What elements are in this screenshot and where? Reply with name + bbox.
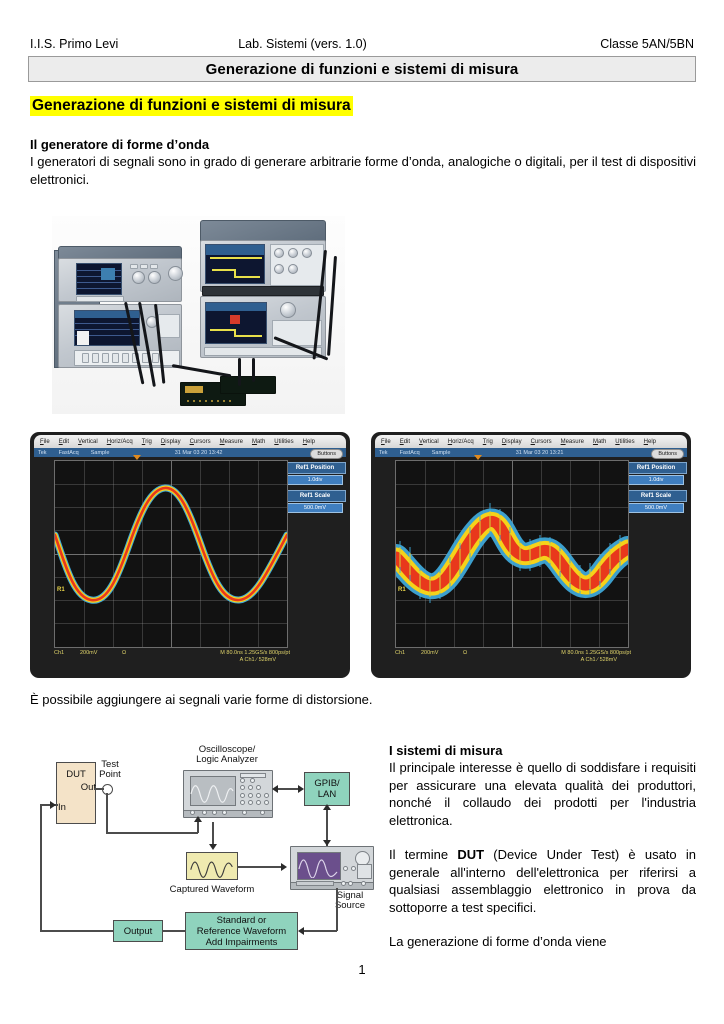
diagram-line-output-left xyxy=(40,930,114,932)
scope-ref1-scale-label: Ref1 Scale xyxy=(284,490,346,502)
diagram-gpib-label-line1: GPIB/ xyxy=(314,778,339,789)
scope-left-readout: Ch1 200mV Ω M 80.0ns 1.25GS/s 800ps/pt A… xyxy=(54,650,290,664)
scope-vendor-label: Tek xyxy=(379,450,388,456)
scope-menu-edit[interactable]: Edit xyxy=(400,439,410,445)
diagram-dut-out-label: Out xyxy=(72,782,96,793)
caption-distortion: È possibile aggiungere ai segnali varie … xyxy=(30,691,373,708)
scope-left-menubar[interactable]: File Edit Vertical Horiz/Acq Trig Displa… xyxy=(34,435,346,448)
scope-channel-scale: 200mV xyxy=(80,650,122,657)
document-title: Generazione di funzioni e sistemi di mis… xyxy=(206,61,519,78)
p2-pre: Il termine xyxy=(389,847,457,862)
scope-menu-cursors[interactable]: Cursors xyxy=(531,439,552,445)
scope-menu-utilities[interactable]: Utilities xyxy=(615,439,634,445)
scope-timebase-readout: M 80.0ns 1.25GS/s 800ps/pt xyxy=(220,650,290,657)
waveform-trace-clean xyxy=(55,461,287,647)
document-page: I.I.S. Primo Levi Lab. Sistemi (vers. 1.… xyxy=(0,0,724,1024)
diagram-dut-in-label: In xyxy=(58,802,74,813)
header-course: Lab. Sistemi (vers. 1.0) xyxy=(238,36,367,52)
header-school: I.I.S. Primo Levi xyxy=(30,36,118,52)
diagram-oscilloscope-icon xyxy=(183,770,273,818)
scope-right-graticule: R1 xyxy=(395,460,629,648)
scope-channel-label: Ch1 xyxy=(54,650,80,657)
diagram-arrow-into-dut xyxy=(50,801,56,809)
diagram-line-scope-to-captured xyxy=(212,822,214,846)
scope-trigger-readout: A Ch1 ∕ 528mV xyxy=(54,657,290,664)
diagram-output-label: Output xyxy=(124,926,153,937)
scope-menu-trig[interactable]: Trig xyxy=(142,439,152,445)
scope-buttons-button[interactable]: Buttons xyxy=(310,449,343,459)
diagram-arrow-to-captured xyxy=(209,844,217,850)
right-column-paragraph-1: Il principale interesse è quello di sodd… xyxy=(389,759,696,829)
document-title-bar: Generazione di funzioni e sistemi di mis… xyxy=(28,56,696,82)
scope-menu-display[interactable]: Display xyxy=(502,439,522,445)
scope-right-readout: Ch1 200mV Ω M 80.0ns 1.25GS/s 800ps/pt A… xyxy=(395,650,631,664)
scope-ref1-position-value: 1.0div xyxy=(287,475,343,485)
scope-buttons-button[interactable]: Buttons xyxy=(651,449,684,459)
scope-ref1-position-panel[interactable]: Ref1 Position 1.0div xyxy=(284,462,346,485)
scope-menu-utilities[interactable]: Utilities xyxy=(274,439,293,445)
diagram-test-point-label-line2: Point xyxy=(88,769,132,780)
diagram-line-captured-to-source xyxy=(238,866,284,868)
trigger-position-marker xyxy=(133,455,141,460)
measurement-system-block-diagram: DUT Out In Test Point Oscilloscope/ Logi… xyxy=(28,742,380,970)
diagram-line-into-scope xyxy=(197,822,199,833)
diagram-signal-source-label-line2: Source xyxy=(322,900,378,911)
scope-ref1-scale-value: 500.0mV xyxy=(628,503,684,513)
diagram-arrow-source-to-gpib xyxy=(323,804,331,810)
scope-menu-help[interactable]: Help xyxy=(303,439,315,445)
diagram-arrow-gpib-to-source xyxy=(323,840,331,846)
scope-channel-label: Ch1 xyxy=(395,650,421,657)
diagram-captured-waveform-box xyxy=(186,852,238,880)
diagram-line-source-to-standard xyxy=(304,930,337,932)
diagram-line-dut-to-testpoint xyxy=(94,788,104,790)
subsection-paragraph: I generatori di segnali sono in grado di… xyxy=(30,153,696,188)
document-header: I.I.S. Primo Levi Lab. Sistemi (vers. 1.… xyxy=(30,36,694,52)
scope-menu-measure[interactable]: Measure xyxy=(220,439,243,445)
diagram-standard-label-line2: Reference Waveform xyxy=(197,926,286,937)
diagram-arrow-to-source xyxy=(281,863,287,871)
right-column-paragraph-2: Il termine DUT (Device Under Test) è usa… xyxy=(389,846,696,916)
diagram-test-point-node xyxy=(102,784,113,795)
right-column-paragraph-3: La generazione di forme d’onda viene xyxy=(389,933,696,951)
scope-ref1-position-label: Ref1 Position xyxy=(625,462,687,474)
diagram-line-testpoint-right xyxy=(106,832,198,834)
diagram-standard-label-line3: Add Impairments xyxy=(206,937,278,948)
subsection-heading: Il generatore di forme d’onda xyxy=(30,136,209,153)
scope-ref1-position-label: Ref1 Position xyxy=(284,462,346,474)
scope-right-side-panel: Ref1 Position 1.0div Ref1 Scale 500.0mV xyxy=(625,462,687,518)
scope-menu-file[interactable]: File xyxy=(381,439,391,445)
scope-menu-help[interactable]: Help xyxy=(644,439,656,445)
diagram-scope-label-line2: Logic Analyzer xyxy=(172,754,282,765)
scope-right-statusbar: Tek FastAcq Sample 31 Mar 03 20 13:21 xyxy=(375,448,687,457)
trigger-position-marker xyxy=(474,455,482,460)
diagram-arrow-scope-to-gpib xyxy=(298,785,304,793)
diagram-standard-waveform-box: Standard or Reference Waveform Add Impai… xyxy=(185,912,298,950)
scope-sample-mode: Sample xyxy=(432,450,451,456)
diagram-dut-label: DUT xyxy=(66,769,86,780)
diagram-line-testpoint-down xyxy=(106,793,108,833)
scope-timestamp: 31 Mar 03 20 13:21 xyxy=(516,450,564,456)
diagram-line-standard-to-output xyxy=(163,930,186,932)
scope-acq-mode: FastAcq xyxy=(59,450,79,456)
scope-menu-measure[interactable]: Measure xyxy=(561,439,584,445)
scope-left-statusbar: Tek FastAcq Sample 31 Mar 03 20 13:42 xyxy=(34,448,346,457)
scope-coupling-icon: Ω xyxy=(122,650,162,657)
scope-menu-vertical[interactable]: Vertical xyxy=(78,439,98,445)
scope-ref1-scale-value: 500.0mV xyxy=(287,503,343,513)
diagram-line-feedback-up xyxy=(40,804,42,932)
scope-right-menubar[interactable]: File Edit Vertical Horiz/Acq Trig Displa… xyxy=(375,435,687,448)
header-class: Classe 5AN/5BN xyxy=(600,36,694,52)
diagram-captured-waveform-label: Captured Waveform xyxy=(156,884,268,895)
scope-menu-horizacq[interactable]: Horiz/Acq xyxy=(448,439,474,445)
scope-timebase-readout: M 80.0ns 1.25GS/s 800ps/pt xyxy=(561,650,631,657)
p2-dut-bold: DUT xyxy=(457,847,484,862)
right-column-heading: I sistemi di misura xyxy=(389,742,696,759)
right-text-column: I sistemi di misura Il principale intere… xyxy=(389,742,696,951)
diagram-output-box: Output xyxy=(113,920,163,942)
scope-vendor-label: Tek xyxy=(38,450,47,456)
lab-equipment-photo xyxy=(52,216,345,414)
scope-ref1-scale-label: Ref1 Scale xyxy=(625,490,687,502)
scope-ref1-scale-panel[interactable]: Ref1 Scale 500.0mV xyxy=(284,490,346,513)
diagram-arrow-into-standard xyxy=(298,927,304,935)
scope-menu-math[interactable]: Math xyxy=(252,439,265,445)
scope-acq-mode: FastAcq xyxy=(400,450,420,456)
diagram-standard-label-line1: Standard or xyxy=(217,915,267,926)
waveform-trace-noisy xyxy=(396,461,628,647)
scope-menu-trig[interactable]: Trig xyxy=(483,439,493,445)
scope-menu-edit[interactable]: Edit xyxy=(59,439,69,445)
oscilloscope-screenshot-clean: File Edit Vertical Horiz/Acq Trig Displa… xyxy=(30,432,350,678)
page-number: 1 xyxy=(0,962,724,977)
scope-left-graticule: R1 xyxy=(54,460,288,648)
oscilloscope-screenshot-noisy: File Edit Vertical Horiz/Acq Trig Displa… xyxy=(371,432,691,678)
diagram-gpib-label-line2: LAN xyxy=(318,789,336,800)
scope-left-side-panel: Ref1 Position 1.0div Ref1 Scale 500.0mV xyxy=(284,462,346,518)
scope-ref1-position-value: 1.0div xyxy=(628,475,684,485)
scope-menu-display[interactable]: Display xyxy=(161,439,181,445)
diagram-arrow-gpib-to-scope xyxy=(272,785,278,793)
scope-menu-cursors[interactable]: Cursors xyxy=(190,439,211,445)
scope-trigger-readout: A Ch1 ∕ 528mV xyxy=(395,657,631,664)
page-title: Generazione di funzioni e sistemi di mis… xyxy=(30,96,353,116)
scope-timestamp: 31 Mar 03 20 13:42 xyxy=(175,450,223,456)
scope-channel-scale: 200mV xyxy=(421,650,463,657)
scope-menu-vertical[interactable]: Vertical xyxy=(419,439,439,445)
diagram-signal-source-icon xyxy=(290,846,374,890)
diagram-gpib-lan-box: GPIB/ LAN xyxy=(304,772,350,806)
scope-coupling-icon: Ω xyxy=(463,650,503,657)
scope-menu-math[interactable]: Math xyxy=(593,439,606,445)
scope-ref1-scale-panel[interactable]: Ref1 Scale 500.0mV xyxy=(625,490,687,513)
diagram-arrow-into-scope xyxy=(194,816,202,822)
scope-ref1-position-panel[interactable]: Ref1 Position 1.0div xyxy=(625,462,687,485)
scope-sample-mode: Sample xyxy=(91,450,110,456)
scope-menu-file[interactable]: File xyxy=(40,439,50,445)
scope-menu-horizacq[interactable]: Horiz/Acq xyxy=(107,439,133,445)
diagram-line-source-down xyxy=(336,888,338,931)
